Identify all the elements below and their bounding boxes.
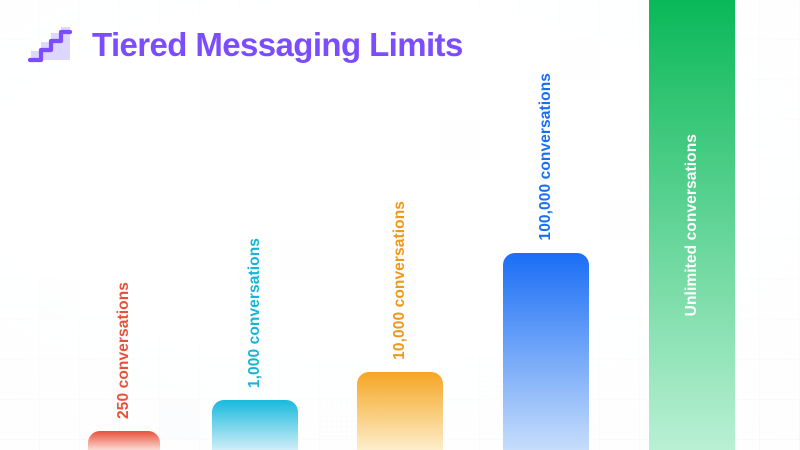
bar-1: 250 conversations (88, 431, 160, 450)
bar-fill-4 (503, 253, 589, 450)
page-title: Tiered Messaging Limits (92, 28, 463, 61)
bar-label-wrap-4: 100,000 conversations (503, 73, 589, 241)
bar-label-2: 1,000 conversations (247, 238, 263, 388)
bar-fill-3 (357, 372, 443, 450)
bar-fill-1 (88, 431, 160, 450)
bar-4: 100,000 conversations (503, 253, 589, 450)
chart-canvas: Tiered Messaging Limits 250 conversation… (0, 0, 800, 450)
bar-label-4: 100,000 conversations (538, 73, 554, 241)
bar-2: 1,000 conversations (212, 400, 298, 450)
bar-label-wrap-1: 250 conversations (88, 282, 160, 419)
page-header: Tiered Messaging Limits (28, 24, 463, 64)
bar-fill-2 (212, 400, 298, 450)
bar-label-wrap-2: 1,000 conversations (212, 238, 298, 388)
bar-label-wrap-3: 10,000 conversations (357, 201, 443, 360)
bar-label-3: 10,000 conversations (392, 201, 408, 360)
stairs-steps-icon (28, 24, 74, 64)
bar-label-1: 250 conversations (116, 282, 132, 419)
bar-chart-bars: 250 conversations1,000 conversations10,0… (0, 0, 800, 450)
bar-fill-5 (649, 0, 735, 450)
bar-3: 10,000 conversations (357, 372, 443, 450)
bar-5: Unlimited conversations (649, 0, 735, 450)
